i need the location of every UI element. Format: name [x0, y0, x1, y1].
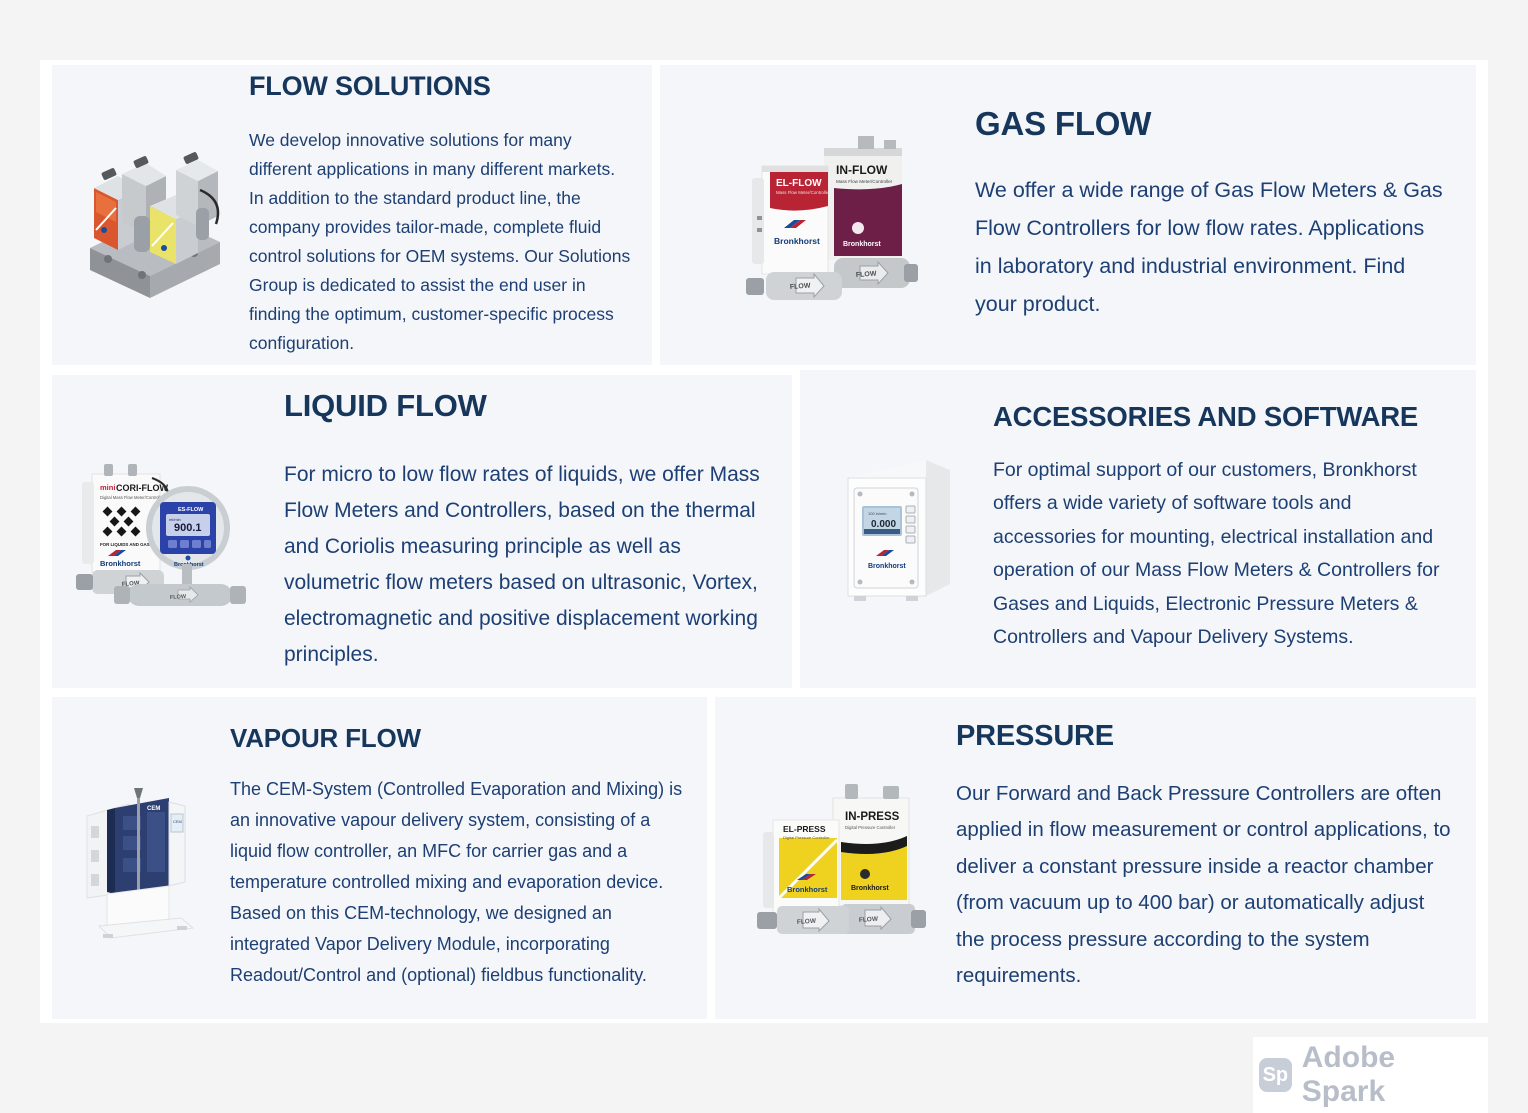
- liquid-flow-image: mini CORI-FLOW Digital Mass Flow Meter/C…: [52, 452, 262, 612]
- accessories-text: ACCESSORIES AND SOFTWARE For optimal sup…: [975, 403, 1476, 655]
- cem-vapour-delivery-module-icon: CEM CEM: [73, 776, 208, 941]
- accessories-body: For optimal support of our customers, Br…: [993, 454, 1450, 655]
- gas-flow-text: GAS FLOW We offer a wide range of Gas Fl…: [955, 107, 1476, 324]
- svg-text:EL-PRESS: EL-PRESS: [783, 824, 826, 834]
- panel-pressure[interactable]: IN-PRESS Digital Pressure Controller Bro…: [715, 697, 1476, 1019]
- pressure-body: Our Forward and Back Pressure Controller…: [956, 776, 1454, 995]
- panel-gas-flow[interactable]: IN-FLOW Mass Flow Meter/Controller Bronk…: [660, 65, 1476, 365]
- svg-text:Bronkhorst: Bronkhorst: [868, 563, 906, 570]
- readout-control-module-icon: 100 ln/min 0.000 Bronkho: [830, 444, 960, 614]
- flow-solutions-image: [52, 130, 239, 300]
- svg-text:100 ln/min: 100 ln/min: [868, 511, 886, 516]
- svg-text:Digital Pressure Controller: Digital Pressure Controller: [783, 835, 830, 840]
- adobe-spark-label: Adobe Spark: [1302, 1041, 1480, 1109]
- svg-text:CEM: CEM: [147, 806, 160, 812]
- page-canvas: FLOW SOLUTIONS We develop innovative sol…: [0, 0, 1528, 1052]
- svg-text:CORI-FLOW: CORI-FLOW: [116, 483, 168, 493]
- panel-vapour-flow[interactable]: CEM CEM: [52, 697, 707, 1019]
- svg-text:Mass Flow Meter/Controller: Mass Flow Meter/Controller: [776, 190, 830, 195]
- svg-text:900.1: 900.1: [174, 522, 202, 534]
- svg-text:EL-FLOW: EL-FLOW: [776, 178, 822, 189]
- liquid-flow-title: LIQUID FLOW: [284, 390, 772, 423]
- gas-flow-title: GAS FLOW: [975, 107, 1446, 142]
- vapour-flow-text: VAPOUR FLOW The CEM-System (Controlled E…: [220, 725, 707, 991]
- svg-text:Bronkhorst: Bronkhorst: [100, 559, 141, 568]
- svg-text:CEM: CEM: [173, 819, 182, 824]
- liquid-flow-text: LIQUID FLOW For micro to low flow rates …: [262, 390, 792, 673]
- svg-text:FLOW: FLOW: [169, 593, 186, 600]
- flow-solutions-text: FLOW SOLUTIONS We develop innovative sol…: [239, 72, 652, 358]
- pressure-image: IN-PRESS Digital Pressure Controller Bro…: [715, 776, 940, 941]
- vapour-flow-image: CEM CEM: [52, 776, 220, 941]
- svg-text:Digital Pressure Controller: Digital Pressure Controller: [845, 825, 896, 830]
- adobe-spark-badge-icon: Sp: [1259, 1058, 1292, 1092]
- svg-text:Digital Mass Flow Meter/Contro: Digital Mass Flow Meter/Controller: [100, 495, 165, 500]
- svg-text:Bronkhorst: Bronkhorst: [843, 241, 881, 248]
- el-flow-in-flow-gas-controller-icon: IN-FLOW Mass Flow Meter/Controller Bronk…: [738, 128, 923, 303]
- adobe-spark-watermark[interactable]: Sp Adobe Spark: [1253, 1037, 1488, 1113]
- vapour-flow-body: The CEM-System (Controlled Evaporation a…: [230, 774, 691, 991]
- gas-flow-body: We offer a wide range of Gas Flow Meters…: [975, 171, 1446, 323]
- content-sheet: FLOW SOLUTIONS We develop innovative sol…: [40, 60, 1488, 1023]
- svg-text:IN-FLOW: IN-FLOW: [836, 163, 888, 177]
- panel-liquid-flow[interactable]: mini CORI-FLOW Digital Mass Flow Meter/C…: [52, 375, 792, 688]
- accessories-title: ACCESSORIES AND SOFTWARE: [993, 403, 1450, 432]
- svg-text:Bronkhorst: Bronkhorst: [787, 885, 828, 894]
- accessories-image: 100 ln/min 0.000 Bronkho: [800, 444, 975, 614]
- gas-flow-image: IN-FLOW Mass Flow Meter/Controller Bronk…: [660, 128, 955, 303]
- el-press-in-press-controller-icon: IN-PRESS Digital Pressure Controller Bro…: [753, 776, 928, 941]
- svg-text:Mass Flow Meter/Controller: Mass Flow Meter/Controller: [836, 179, 893, 184]
- flow-solutions-body: We develop innovative solutions for many…: [249, 126, 632, 358]
- panel-flow-solutions[interactable]: FLOW SOLUTIONS We develop innovative sol…: [52, 65, 652, 365]
- pressure-title: PRESSURE: [956, 721, 1454, 751]
- multi-channel-flow-manifold-icon: [72, 130, 232, 300]
- svg-text:ES-FLOW: ES-FLOW: [178, 507, 204, 513]
- svg-text:Bronkhorst: Bronkhorst: [774, 236, 820, 246]
- flow-solutions-title: FLOW SOLUTIONS: [249, 72, 632, 100]
- vapour-flow-title: VAPOUR FLOW: [230, 725, 691, 752]
- svg-text:FLOW: FLOW: [789, 282, 810, 290]
- mini-cori-flow-meter-icon: mini CORI-FLOW Digital Mass Flow Meter/C…: [70, 452, 255, 612]
- svg-text:Bronkhorst: Bronkhorst: [851, 885, 889, 892]
- liquid-flow-body: For micro to low flow rates of liquids, …: [284, 457, 772, 673]
- svg-text:IN-PRESS: IN-PRESS: [845, 811, 900, 823]
- svg-text:FLOW: FLOW: [796, 917, 816, 925]
- svg-text:FLOW: FLOW: [855, 270, 876, 278]
- svg-text:FOR LIQUIDS AND GASES: FOR LIQUIDS AND GASES: [100, 542, 156, 547]
- svg-text:mini: mini: [100, 483, 115, 492]
- pressure-text: PRESSURE Our Forward and Back Pressure C…: [940, 721, 1476, 994]
- panel-accessories-and-software[interactable]: 100 ln/min 0.000 Bronkho: [800, 370, 1476, 688]
- svg-text:0.000: 0.000: [871, 519, 896, 530]
- svg-text:FLOW: FLOW: [858, 915, 878, 923]
